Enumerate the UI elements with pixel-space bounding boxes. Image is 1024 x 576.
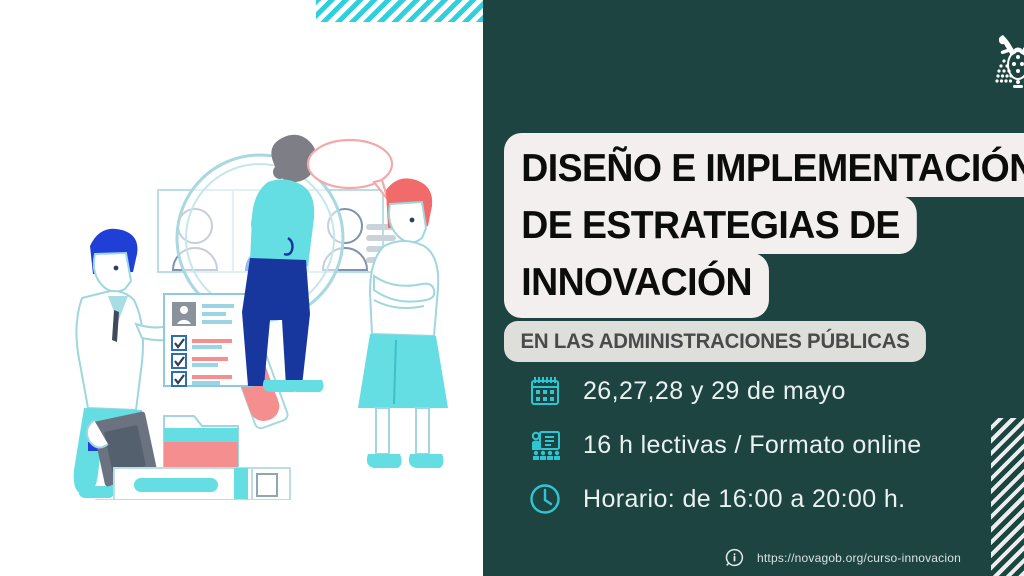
detail-row-schedule: Horario: de 16:00 a 20:00 h. [528, 482, 922, 516]
course-title-block: DISEÑO E IMPLEMENTACIÓN DE ESTRATEGIAS D… [504, 133, 1024, 318]
course-url-text: https://novagob.org/curso-innovacion [757, 552, 961, 564]
detail-text-dates: 26,27,28 y 29 de mayo [583, 379, 846, 404]
presentation-training-icon [528, 428, 562, 462]
detail-row-hours-format: 16 h lectivas / Formato online [528, 428, 922, 462]
calendar-icon [528, 374, 562, 408]
info-circle-icon [725, 548, 744, 567]
clock-icon [528, 482, 562, 516]
uah-crest-icon [993, 27, 1024, 89]
course-title-line3: INNOVACIÓN [504, 253, 769, 318]
folder-icon [164, 416, 238, 474]
poster-canvas: CURSO DE EXTENSIÓN UNIVERSITARIA - 1ª Ed… [0, 0, 1024, 576]
course-title-line1: DISEÑO E IMPLEMENTACIÓN [504, 133, 1024, 197]
light-diagonal-stripes-decoration [991, 418, 1024, 576]
detail-row-dates: 26,27,28 y 29 de mayo [528, 374, 922, 408]
candidate-selection-illustration [38, 128, 458, 500]
left-panel: CURSO DE EXTENSIÓN UNIVERSITARIA - 1ª Ed… [0, 0, 483, 576]
course-details-list: 26,27,28 y 29 de mayo 16 h lectivas / Fo… [528, 374, 922, 516]
university-logo: Universidad de Alcalá [993, 27, 1024, 89]
course-url-bar[interactable]: https://novagob.org/curso-innovacion [725, 548, 961, 567]
checklist-card [164, 294, 252, 386]
course-title-line2: DE ESTRATEGIAS DE [504, 196, 917, 254]
detail-text-schedule: Horario: de 16:00 a 20:00 h. [583, 487, 906, 512]
detail-text-hours-format: 16 h lectivas / Formato online [583, 433, 922, 458]
stacked-books [96, 468, 290, 500]
cyan-diagonal-stripes-decoration [316, 0, 483, 22]
course-subtitle: EN LAS ADMINISTRACIONES PÚBLICAS [504, 321, 926, 362]
